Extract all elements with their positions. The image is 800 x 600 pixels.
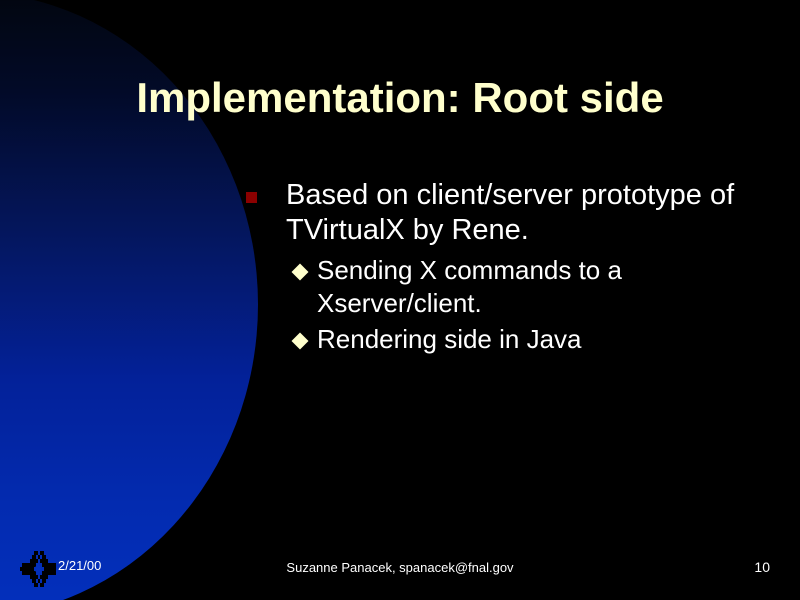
diamond-bullet-icon bbox=[292, 264, 309, 281]
bullet-text-level2: Rendering side in Java bbox=[317, 323, 788, 356]
footer-page-number: 10 bbox=[754, 559, 770, 575]
footer-author: Suzanne Panacek, spanacek@fnal.gov bbox=[0, 560, 800, 575]
bullet-sublist: Sending X commands to a Xserver/client. … bbox=[294, 254, 788, 356]
bullet-text-level1: Based on client/server prototype of TVir… bbox=[286, 178, 788, 248]
square-bullet-icon bbox=[246, 192, 257, 203]
bullet-item-level2: Rendering side in Java bbox=[294, 323, 788, 356]
bullet-item-level2: Sending X commands to a Xserver/client. bbox=[294, 254, 788, 320]
presentation-slide: Implementation: Root side Based on clien… bbox=[0, 0, 800, 600]
diamond-bullet-icon bbox=[292, 333, 309, 350]
slide-title: Implementation: Root side bbox=[0, 74, 800, 122]
slide-body: Based on client/server prototype of TVir… bbox=[246, 178, 788, 359]
bullet-item-level1: Based on client/server prototype of TVir… bbox=[246, 178, 788, 248]
bullet-text-level2: Sending X commands to a Xserver/client. bbox=[317, 254, 788, 320]
